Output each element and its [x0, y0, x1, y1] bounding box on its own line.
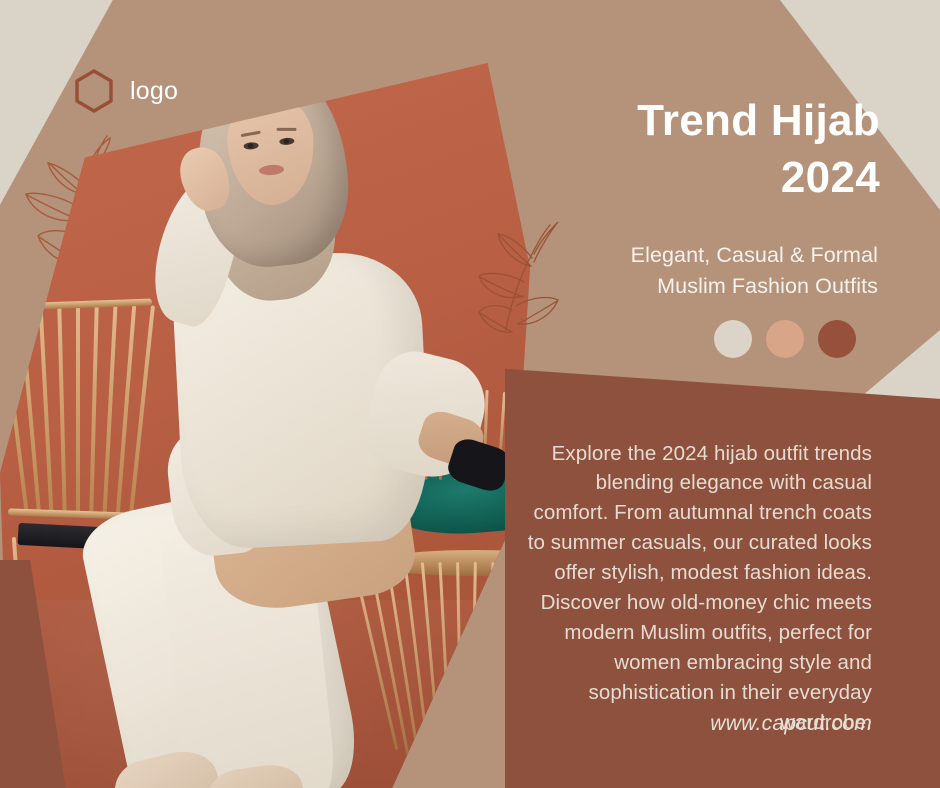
color-swatch-group — [714, 320, 856, 358]
headline: Trend Hijab 2024 — [520, 92, 880, 206]
subtitle: Elegant, Casual & Formal Muslim Fashion … — [520, 240, 878, 301]
headline-line-2: 2024 — [520, 149, 880, 206]
body-copy-text: Explore the 2024 hijab outfit trends ble… — [524, 439, 872, 738]
swatch-salmon — [766, 320, 804, 358]
swatch-rust — [818, 320, 856, 358]
swatch-cream — [714, 320, 752, 358]
subtitle-line-2: Muslim Fashion Outfits — [520, 271, 878, 302]
model-figure — [120, 55, 480, 788]
hexagon-outline-icon — [72, 68, 116, 114]
logo-text: logo — [130, 79, 178, 104]
poster-canvas: logo Trend Hijab 2024 Elegant, Casual & … — [0, 0, 940, 788]
subtitle-line-1: Elegant, Casual & Formal — [520, 240, 878, 271]
website-url[interactable]: www.capcut.com — [524, 712, 872, 736]
headline-line-1: Trend Hijab — [637, 96, 880, 145]
brand-logo[interactable]: logo — [72, 68, 178, 114]
